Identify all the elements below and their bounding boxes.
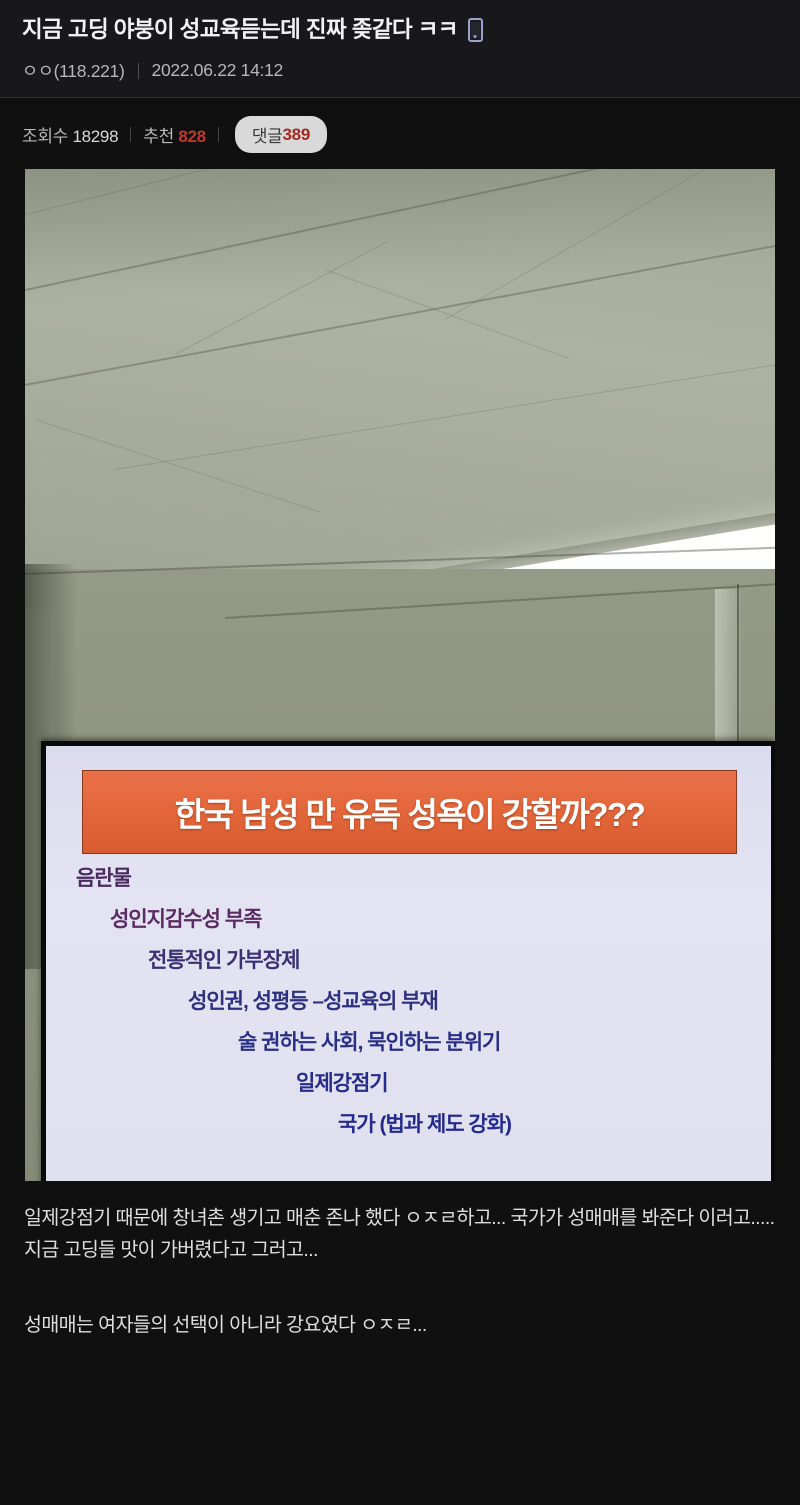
paragraph-gap [24, 1266, 776, 1310]
view-count-value: 18298 [72, 127, 118, 146]
comment-count-badge[interactable]: 댓글389 [235, 116, 327, 153]
post-title-row: 지금 고딩 야붕이 성교육듣는데 진짜 좆같다 ㅋㅋ [22, 16, 778, 44]
comment-count-label: 댓글 [252, 122, 283, 147]
classroom-photo: 한국 남성 만 유독 성욕이 강할까??? 음란물 성인지감수성 부족 전통적인… [25, 169, 775, 1181]
body-paragraph: 성매매는 여자들의 선택이 아니라 강요였다 ㅇㅈㄹ... [24, 1310, 776, 1342]
author-name[interactable]: ㅇㅇ(118.221) [22, 58, 125, 83]
slide-title: 한국 남성 만 유독 성욕이 강할까??? [175, 788, 645, 836]
slide-bullet-item: 음란물 [76, 868, 749, 889]
like-count-label: 추천 [143, 127, 174, 146]
stats-bar: 조회수 18298 추천 828 댓글389 [0, 98, 800, 169]
slide-bullet-item: 성인지감수성 부족 [110, 909, 749, 930]
post-body: 일제강점기 때문에 창녀촌 생기고 매춘 존나 했다 ㅇㅈㄹ하고... 국가가 … [0, 1181, 800, 1342]
meta-divider [138, 63, 139, 79]
post-page: 지금 고딩 야붕이 성교육듣는데 진짜 좆같다 ㅋㅋ ㅇㅇ(118.221) 2… [0, 0, 800, 1505]
page-title: 지금 고딩 야붕이 성교육듣는데 진짜 좆같다 ㅋㅋ [22, 16, 458, 44]
slide-title-banner: 한국 남성 만 유독 성욕이 강할까??? [82, 770, 737, 854]
slide-bullet-item: 술 권하는 사회, 묵인하는 분위기 [238, 1032, 749, 1053]
post-meta: ㅇㅇ(118.221) 2022.06.22 14:12 [22, 58, 778, 83]
slide-bullet-item: 국가 (법과 제도 강화) [338, 1114, 749, 1135]
view-count-stat: 조회수 18298 [22, 122, 118, 147]
ceiling-surface [25, 169, 775, 584]
like-count-stat[interactable]: 추천 828 [143, 122, 206, 147]
slide-bullet-item: 일제강점기 [296, 1073, 749, 1094]
stat-divider-1 [130, 127, 131, 142]
slide-bullet-item: 성인권, 성평등 –성교육의 부재 [188, 991, 749, 1012]
post-image[interactable]: 한국 남성 만 유독 성욕이 강할까??? 음란물 성인지감수성 부족 전통적인… [25, 169, 775, 1181]
stat-divider-2 [218, 127, 219, 142]
body-paragraph: 일제강점기 때문에 창녀촌 생기고 매춘 존나 했다 ㅇㅈㄹ하고... 국가가 … [24, 1203, 776, 1266]
post-date: 2022.06.22 14:12 [152, 60, 283, 81]
slide-bullet-item: 전통적인 가부장제 [148, 950, 749, 971]
like-count-value: 828 [178, 127, 205, 146]
post-header: 지금 고딩 야붕이 성교육듣는데 진짜 좆같다 ㅋㅋ ㅇㅇ(118.221) 2… [0, 0, 800, 97]
slide-content: 한국 남성 만 유독 성욕이 강할까??? 음란물 성인지감수성 부족 전통적인… [46, 746, 771, 1181]
projector-screen: 한국 남성 만 유독 성욕이 강할까??? 음란물 성인지감수성 부족 전통적인… [41, 741, 775, 1181]
view-count-label: 조회수 [22, 127, 68, 146]
slide-bullet-list: 음란물 성인지감수성 부족 전통적인 가부장제 성인권, 성평등 –성교육의 부… [68, 868, 749, 1135]
comment-count-value: 389 [283, 125, 310, 145]
mobile-phone-icon [468, 18, 483, 42]
